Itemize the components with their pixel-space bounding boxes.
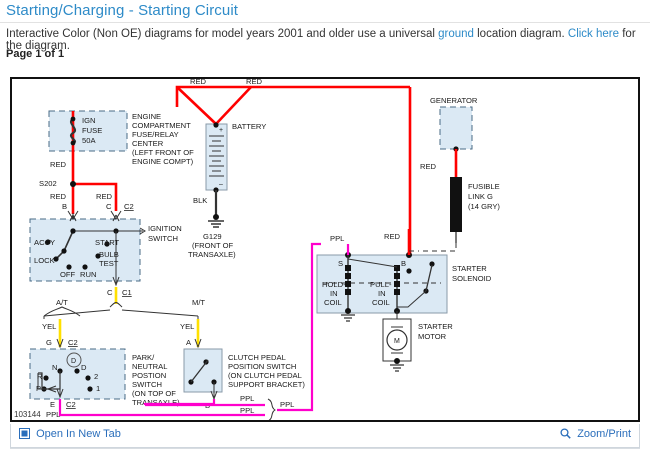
- pnp-line5: (ON TOP OF: [132, 389, 176, 398]
- pnp-line4: SWITCH: [132, 380, 162, 389]
- ign-pos-start: START: [95, 238, 120, 247]
- motor-line2: MOTOR: [418, 332, 447, 341]
- ign-pos-accy: ACCY: [34, 238, 55, 247]
- pnp-gear-p: P: [36, 384, 41, 393]
- c1-connector: C1: [122, 288, 132, 297]
- ign-pos-bulb2: TEST: [99, 259, 119, 268]
- hold-coil-line2: IN: [330, 289, 338, 298]
- clutch-line1: CLUTCH PEDAL: [228, 353, 286, 362]
- pnp-gear-r: R: [37, 372, 43, 381]
- pnp-terminal-g: G: [46, 338, 52, 347]
- pnp-dial-d: D: [71, 358, 76, 365]
- clutch-terminal-a: A: [186, 338, 192, 347]
- solenoid-terminal-s: S: [338, 259, 343, 268]
- wire-label-ppl-pnp: PPL: [46, 410, 60, 419]
- hold-coil-line3: COIL: [324, 298, 342, 307]
- fuse-center-line4: CENTER: [132, 139, 164, 148]
- pull-coil-line2: IN: [378, 289, 386, 298]
- fuse-center-line1: ENGINE: [132, 112, 161, 121]
- pnp-connector-c2: C2: [68, 338, 78, 347]
- new-tab-icon: [19, 428, 30, 442]
- fuse-label-ign: IGN: [82, 116, 96, 125]
- clutch-pedal-position-switch: [184, 349, 222, 399]
- pnp-gear-2: 2: [94, 372, 98, 381]
- motor-symbol: M: [394, 338, 400, 345]
- diagram-footer-bar: Open In New Tab Zoom/Print: [10, 424, 640, 448]
- yel-to-pnp: [57, 319, 63, 347]
- wire-label-yel-mt: YEL: [180, 322, 194, 331]
- fuse-center-line5: (LEFT FRONT OF: [132, 148, 194, 157]
- wire-label-ppl-sol: PPL: [330, 234, 344, 243]
- fuse-center-line6: ENGINE COMPT): [132, 157, 194, 166]
- pull-coil-line3: COIL: [372, 298, 390, 307]
- label-at: A/T: [56, 298, 68, 307]
- page-subtitle: Interactive Color (Non OE) diagrams for …: [6, 28, 650, 52]
- solenoid-terminal-b: B: [401, 259, 406, 268]
- solenoid-line1: STARTER: [452, 264, 487, 273]
- battery-label: BATTERY: [232, 122, 266, 131]
- fusible-line3: (14 GRY): [468, 202, 500, 211]
- wire-label-ppl-3: PPL: [280, 400, 294, 409]
- pnp-gear-1: 1: [96, 384, 100, 393]
- magnifier-icon: [560, 428, 571, 442]
- ground-loc-line1: (FRONT OF: [192, 241, 234, 250]
- diagram-frame: .bx{fill:#dbe9f4;stroke:#8a9aa8;stroke-w…: [10, 77, 640, 422]
- zoom-print-button[interactable]: Zoom/Print: [560, 428, 631, 442]
- solenoid-line2: SOLENOID: [452, 274, 492, 283]
- fuse-center-line2: COMPARTMENT: [132, 121, 191, 130]
- subtitle-text-2: location diagram.: [474, 28, 568, 40]
- pnp-line2: NEUTRAL: [132, 362, 167, 371]
- ign-connector-c2: C2: [124, 202, 134, 211]
- pull-coil-line1: PULL-: [370, 280, 392, 289]
- page-title: Starting/Charging - Starting Circuit: [6, 2, 238, 19]
- fuse-label-amp: 50A: [82, 136, 96, 145]
- ground-label-g129: G129: [203, 232, 222, 241]
- pnp-line1: PARK/: [132, 353, 155, 362]
- wire-label-red-right: RED: [246, 79, 263, 86]
- yel-to-clutch: [195, 319, 201, 347]
- generator-box: [440, 107, 472, 152]
- wire-label-blk: BLK: [193, 196, 207, 205]
- fusible-line2: LINK G: [468, 192, 493, 201]
- battery-minus: –: [219, 181, 223, 188]
- pnp-terminal-e: E: [50, 400, 55, 409]
- ign-pos-bulb1: BULB: [99, 250, 119, 259]
- generator-label: GENERATOR: [430, 96, 478, 105]
- zoom-print-label: Zoom/Print: [577, 428, 631, 440]
- wire-label-ppl-1: PPL: [240, 394, 254, 403]
- page-counter: Page 1 of 1: [6, 48, 64, 60]
- diagram-id: 103144: [14, 410, 41, 419]
- wire-label-red-c: RED: [96, 192, 113, 201]
- motor-line1: STARTER: [418, 322, 453, 331]
- ign-terminal-b: B: [62, 202, 67, 211]
- battery-plus: +: [219, 127, 223, 134]
- pnp-gear-n: N: [52, 363, 57, 372]
- open-in-new-tab-button[interactable]: Open In New Tab: [19, 428, 121, 442]
- wire-label-red-b: RED: [50, 192, 67, 201]
- ign-switch-line1: IGNITION: [148, 224, 182, 233]
- clutch-line4: SUPPORT BRACKET): [228, 380, 305, 389]
- battery-ground-wire: [208, 190, 224, 227]
- c1-terminal-c: C: [107, 288, 113, 297]
- wiring-diagram-svg: .bx{fill:#dbe9f4;stroke:#8a9aa8;stroke-w…: [12, 79, 638, 420]
- battery-symbol: + –: [206, 122, 227, 192]
- wire-label-red-fuse-out: RED: [50, 160, 67, 169]
- wire-label-red-sol: RED: [384, 232, 401, 241]
- diagram-page: Starting/Charging - Starting Circuit Int…: [0, 0, 650, 471]
- footer-divider: [10, 448, 640, 449]
- ground-loc-line2: TRANSAXLE): [188, 250, 236, 259]
- ign-pos-off: OFF: [60, 270, 76, 279]
- header-divider: [0, 22, 650, 23]
- clutch-line2: POSITION SWITCH: [228, 362, 296, 371]
- open-in-new-tab-label: Open In New Tab: [36, 428, 121, 440]
- wire-label-red-left: RED: [190, 79, 207, 86]
- ign-pos-run: RUN: [80, 270, 96, 279]
- splice-label-s202: S202: [39, 179, 57, 188]
- clutch-line3: (ON CLUTCH PEDAL: [228, 371, 302, 380]
- label-mt: M/T: [192, 298, 205, 307]
- click-here-link[interactable]: Click here: [568, 28, 619, 40]
- fuse-label-fuse: FUSE: [82, 126, 102, 135]
- subtitle-text-1: Interactive Color (Non OE) diagrams for …: [6, 28, 438, 40]
- ground-link[interactable]: ground: [438, 28, 474, 40]
- fuse-center-line3: FUSE/RELAY: [132, 130, 179, 139]
- pnp-line3: POSTION: [132, 371, 166, 380]
- wire-label-yel-at: YEL: [42, 322, 56, 331]
- wire-label-red-gen: RED: [420, 162, 437, 171]
- ign-switch-line2: SWITCH: [148, 234, 178, 243]
- wire-label-ppl-2: PPL: [240, 406, 254, 415]
- fusible-line1: FUSIBLE: [468, 182, 500, 191]
- engine-compartment-fuse-relay-center: IGN FUSE 50A: [49, 111, 127, 151]
- park-neutral-position-switch: D: [30, 349, 125, 399]
- ign-terminal-c: C: [106, 202, 112, 211]
- ign-pos-lock: LOCK: [34, 256, 55, 265]
- pnp-out-connector-c2: C2: [66, 400, 76, 409]
- hold-coil-line1: HOLD-: [322, 280, 346, 289]
- pnp-gear-d: D: [81, 363, 87, 372]
- starter-motor: M: [383, 311, 411, 371]
